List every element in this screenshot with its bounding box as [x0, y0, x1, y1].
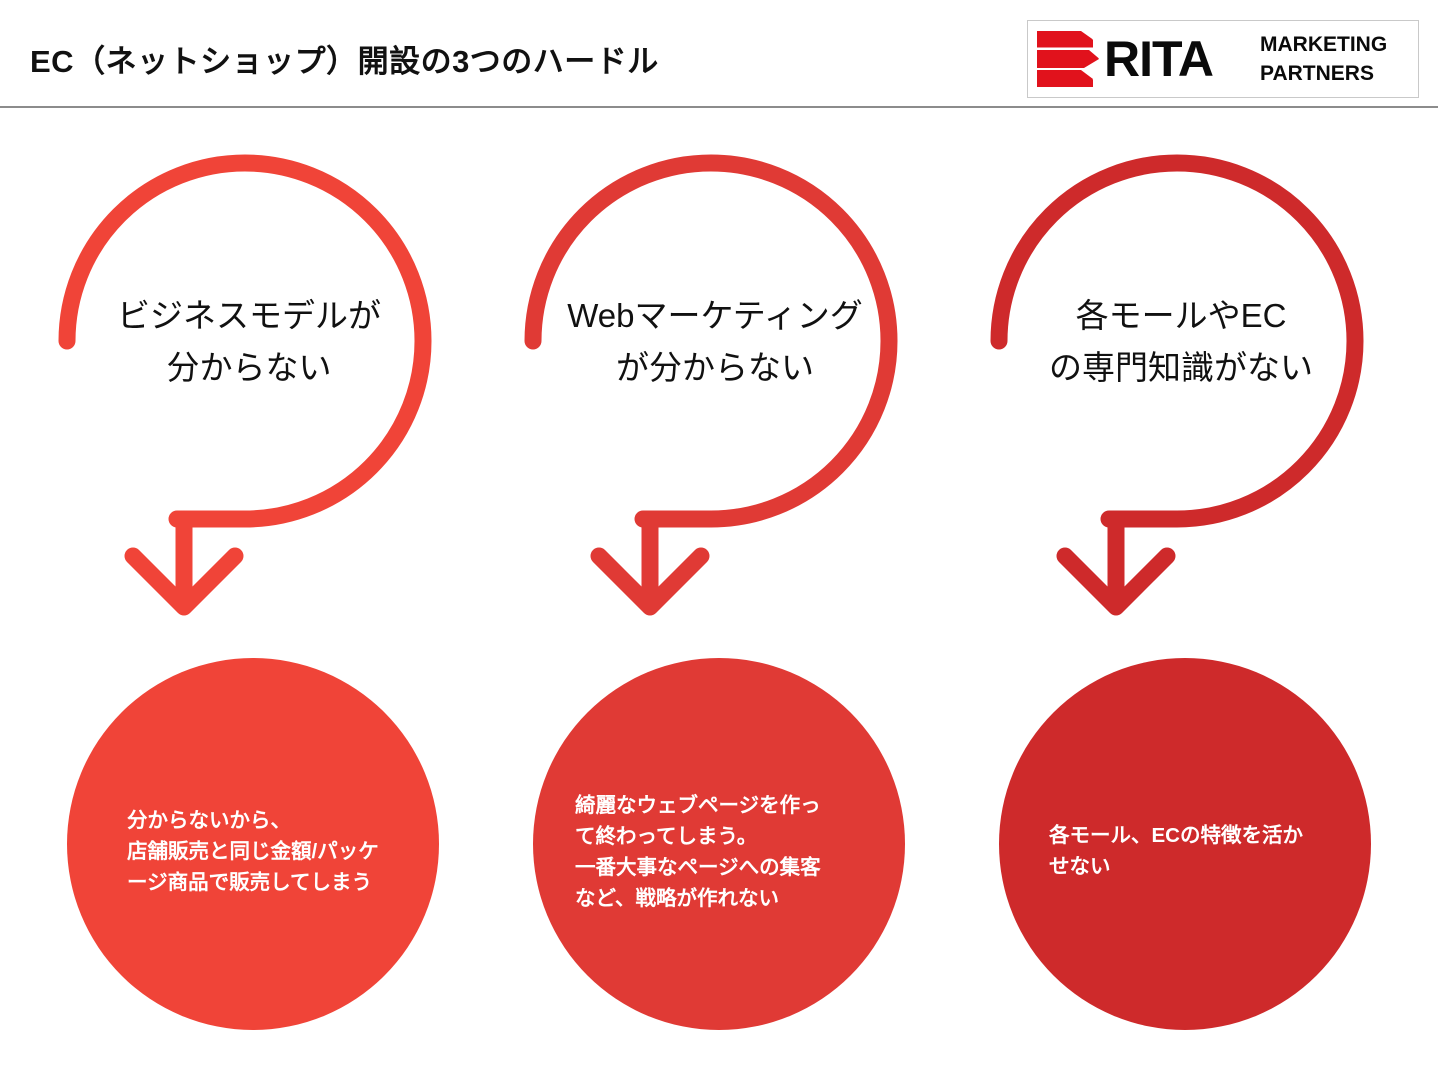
outcome-text-2-line-3: 一番大事なページへの集客 [575, 852, 895, 883]
outcome-text-3: 各モール、ECの特徴を活か せない [1049, 820, 1369, 882]
outcome-text-2-line-2: て終わってしまう。 [575, 821, 895, 852]
logo-subtitle-line-1: MARKETING [1260, 30, 1410, 59]
hurdle-label-2-line-2: が分からない [515, 342, 915, 394]
rita-logo: RITA MARKETING PARTNERS [1027, 20, 1419, 98]
hurdle-column-web-marketing: Webマーケティング が分からない 綺麗なウェブページを作っ て終わってしまう。… [485, 107, 955, 1076]
rita-arrow-mark-icon [1037, 30, 1099, 88]
hurdle-column-mall-ec-knowledge: 各モールやEC の専門知識がない 各モール、ECの特徴を活か せない [951, 107, 1421, 1076]
outcome-text-3-line-1: 各モール、ECの特徴を活か [1049, 820, 1369, 851]
hurdle-label-2-line-1: Webマーケティング [515, 290, 915, 342]
hurdle-label-3: 各モールやEC の専門知識がない [981, 290, 1381, 394]
hurdle-label-1-line-2: 分からない [49, 342, 449, 394]
outcome-text-2: 綺麗なウェブページを作っ て終わってしまう。 一番大事なページへの集客 など、戦… [575, 790, 895, 914]
logo-subtitle-line-2: PARTNERS [1260, 59, 1410, 88]
outcome-text-2-line-1: 綺麗なウェブページを作っ [575, 790, 895, 821]
logo-wordmark: RITA [1104, 26, 1213, 92]
slide-canvas: EC（ネットショップ）開設の3つのハードル RITA MARKETING PAR… [0, 0, 1438, 1076]
slide-header: EC（ネットショップ）開設の3つのハードル RITA MARKETING PAR… [0, 0, 1438, 107]
outcome-text-1-line-1: 分からないから、 [127, 805, 447, 836]
hurdle-label-2: Webマーケティング が分からない [515, 290, 915, 394]
hurdle-label-3-line-1: 各モールやEC [981, 290, 1381, 342]
logo-subtitle: MARKETING PARTNERS [1260, 30, 1410, 88]
hurdle-label-3-line-2: の専門知識がない [981, 342, 1381, 394]
outcome-text-1-line-3: ージ商品で販売してしまう [127, 867, 447, 898]
outcome-text-3-line-2: せない [1049, 851, 1369, 882]
page-title: EC（ネットショップ）開設の3つのハードル [30, 36, 659, 81]
outcome-text-1: 分からないから、 店舗販売と同じ金額/パッケ ージ商品で販売してしまう [127, 805, 447, 898]
outcome-text-2-line-4: など、戦略が作れない [575, 883, 895, 914]
hurdle-label-1: ビジネスモデルが 分からない [49, 290, 449, 394]
hurdle-label-1-line-1: ビジネスモデルが [49, 290, 449, 342]
outcome-text-1-line-2: 店舗販売と同じ金額/パッケ [127, 836, 447, 867]
hurdle-column-business-model: ビジネスモデルが 分からない 分からないから、 店舗販売と同じ金額/パッケ ージ… [19, 107, 489, 1076]
